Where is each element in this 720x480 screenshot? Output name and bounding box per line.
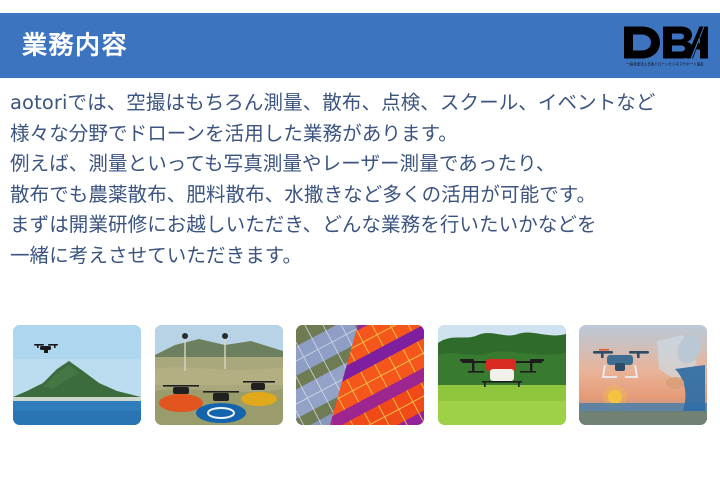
photo-agricultural-spray-drone	[438, 325, 566, 425]
dba-logo-icon	[622, 25, 708, 59]
body-line-1: aotoriでは、空撮はもちろん測量、散布、点検、スクール、イベントなど	[10, 88, 716, 119]
body-copy: aotoriでは、空撮はもちろん測量、散布、点検、スクール、イベントなど 様々な…	[10, 88, 716, 271]
photo-solar-panel-thermal-inspection	[296, 325, 424, 425]
body-line-2: 様々な分野でドローンを活用した業務があります。	[10, 119, 716, 150]
photo-drone-at-sunset-with-pilot	[579, 325, 707, 425]
page-title: 業務内容	[22, 33, 128, 58]
photo-drones-on-landing-pads	[155, 325, 283, 425]
dba-logo-subtitle: 一般社団法人日本ドローンビジネスサポート協会	[626, 61, 704, 67]
dba-logo: 一般社団法人日本ドローンビジネスサポート協会	[622, 25, 708, 66]
photo-drone-over-mountain-sea	[13, 325, 141, 425]
slide-title-band: 業務内容 一般社団法人日本ドローンビジネスサポート協会	[0, 13, 720, 78]
body-line-4: 散布でも農薬散布、肥料散布、水撒きなど多くの活用が可能です。	[10, 180, 716, 211]
body-line-6: 一緒に考えさせていただきます。	[10, 241, 716, 272]
body-line-3: 例えば、測量といっても写真測量やレーザー測量であったり、	[10, 149, 716, 180]
body-line-5: まずは開業研修にお越しいただき、どんな業務を行いたいかなどを	[10, 210, 716, 241]
photo-strip	[13, 325, 707, 425]
